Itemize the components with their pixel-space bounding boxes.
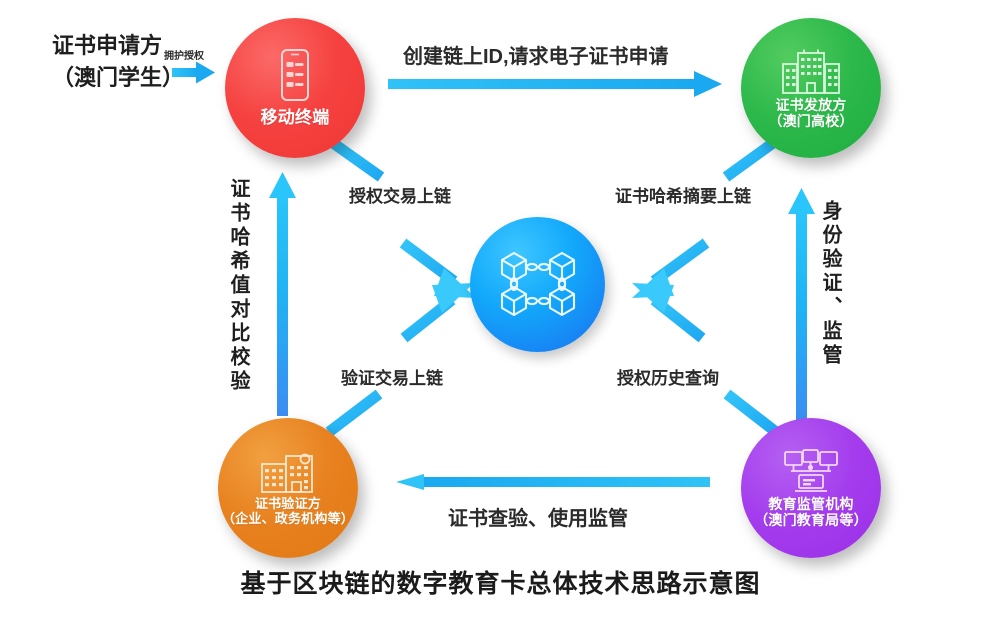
node-certificate-issuer[interactable]: 证书发放方 （澳门高校） [741,18,881,158]
arrow-authorization-history [632,283,776,432]
node-certificate-verifier[interactable]: 证书验证方 （企业、政务机构等） [218,418,358,558]
diagram-canvas: 移动终端 [0,0,1001,627]
node-blockchain-core[interactable] [470,217,605,352]
arrow-certificate-hash-digest [632,143,773,298]
arrow-identity-verification [788,188,815,424]
office-building-icon [259,450,317,494]
node-label-education-regulator: 教育监管机构 （澳门教育局等） [754,496,868,528]
arrow-hash-comparison [269,172,296,416]
label-verification-transaction: 验证交易上链 [341,364,443,389]
label-create-chain-id: 创建链上ID,请求电子证书申请 [403,40,669,69]
monitors-network-icon [781,448,841,494]
arrow-verification-transaction [329,283,474,432]
node-label-certificate-issuer: 证书发放方 （澳门高校） [768,97,853,129]
node-education-regulator[interactable]: 教育监管机构 （澳门教育局等） [741,418,881,558]
arrow-create-chain-id [388,71,722,97]
blockchain-cubes-icon [488,234,588,334]
node-label-mobile-terminal: 移动终端 [261,108,330,128]
node-label-certificate-verifier: 证书验证方 （企业、政务机构等） [222,496,354,526]
label-identity-verification: 身份验证、监管 [820,200,840,368]
label-authorized-transaction: 授权交易上链 [349,182,451,207]
smartphone-icon [275,48,315,106]
university-building-icon [780,47,842,95]
label-hash-value-comparison: 证书哈希值对比校验 [228,178,248,394]
arrow-certificate-inspection [396,474,710,490]
label-authorization-history: 授权历史查询 [617,364,719,389]
node-mobile-terminal[interactable]: 移动终端 [225,18,365,158]
label-certificate-hash-digest: 证书哈希摘要上链 [615,182,751,207]
arrow-authorized-transaction [333,143,476,298]
label-certificate-inspection: 证书查验、使用监管 [448,502,628,531]
label-grant-authorization: 拥护授权 [164,47,204,62]
